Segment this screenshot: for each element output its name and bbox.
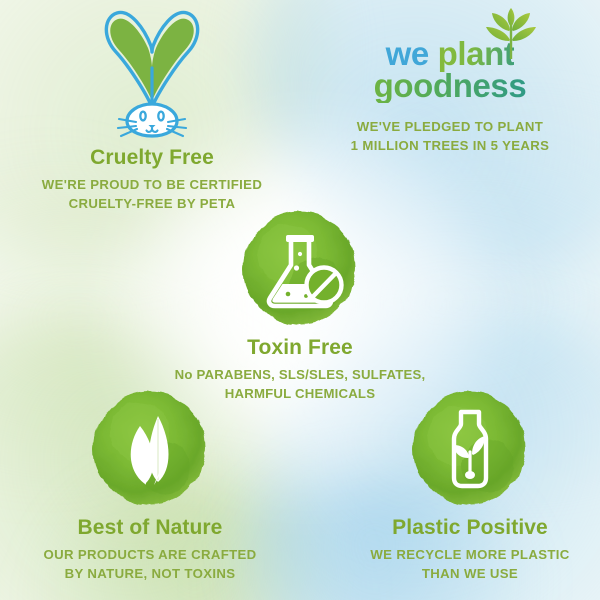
sprout-icon — [470, 7, 552, 59]
badge-cruelty-free: Cruelty Free WE'RE PROUD TO BE CERTIFIED… — [12, 8, 292, 213]
plastic-positive-title: Plastic Positive — [330, 516, 600, 539]
badge-plastic-positive: Plastic Positive WE RECYCLE MORE PLASTIC… — [330, 386, 600, 583]
best-of-nature-caption: OUR PRODUCTS ARE CRAFTED BY NATURE, NOT … — [10, 545, 290, 583]
bottle-sprout-icon — [408, 386, 532, 510]
toxin-free-icon-wrap — [160, 206, 440, 330]
cruelty-free-title: Cruelty Free — [12, 146, 292, 169]
infographic-poster: Cruelty Free WE'RE PROUD TO BE CERTIFIED… — [0, 0, 600, 600]
badge-we-plant-goodness: we plant goodness WE'VE PLEDGED TO PLANT… — [310, 38, 590, 155]
we-plant-goodness-logo: we plant goodness — [374, 38, 527, 103]
peta-cruelty-free-bunny-icon — [86, 8, 218, 140]
logo-word-goodness: goodness — [374, 70, 527, 102]
cruelty-free-icon-wrap — [12, 8, 292, 140]
best-of-nature-icon-wrap — [10, 386, 290, 510]
best-of-nature-title: Best of Nature — [10, 516, 290, 539]
toxin-free-title: Toxin Free — [160, 336, 440, 359]
plastic-positive-caption: WE RECYCLE MORE PLASTIC THAN WE USE — [330, 545, 600, 583]
we-plant-goodness-caption: WE'VE PLEDGED TO PLANT 1 MILLION TREES I… — [310, 117, 590, 155]
flask-no-toxins-icon — [238, 206, 362, 330]
plastic-positive-icon-wrap — [330, 386, 600, 510]
badge-best-of-nature: Best of Nature OUR PRODUCTS ARE CRAFTED … — [10, 386, 290, 583]
badge-toxin-free: Toxin Free No PARABENS, SLS/SLES, SULFAT… — [160, 206, 440, 403]
two-leaves-icon — [88, 386, 212, 510]
